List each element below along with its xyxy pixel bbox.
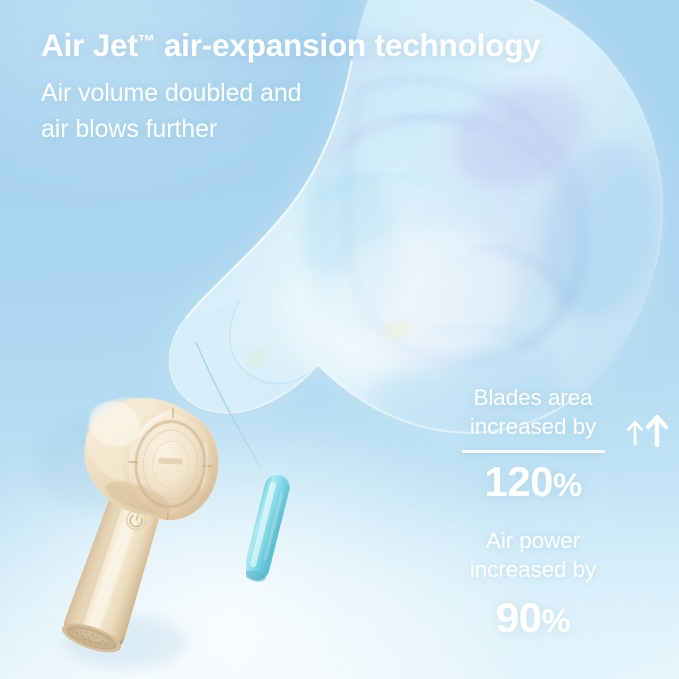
blades-area-label-line-1: Blades area	[418, 383, 648, 412]
product-marketing-poster: Air Jet™ air-expansion technology Air vo…	[0, 0, 679, 679]
page-title: Air Jet™ air-expansion technology	[41, 28, 661, 63]
blades-area-value: 120%	[418, 460, 648, 505]
air-power-number: 90	[496, 594, 542, 641]
double-up-arrow-icon	[622, 411, 679, 451]
air-power-unit: %	[542, 602, 571, 639]
air-power-label-line-2: increased by	[418, 555, 648, 584]
stats-block: Blades area increased by 120% Air power …	[418, 383, 648, 641]
subheadline-line-1: Air volume doubled and	[41, 75, 661, 111]
subheadline-line-2: air blows further	[41, 111, 661, 147]
blades-area-number: 120	[484, 458, 553, 505]
blades-area-label: Blades area increased by	[418, 383, 648, 441]
stat-divider	[462, 450, 605, 453]
headline-block: Air Jet™ air-expansion technology Air vo…	[41, 28, 661, 147]
balloon-weight	[246, 468, 290, 592]
air-power-label-line-1: Air power	[418, 526, 648, 555]
air-power-value: 90%	[418, 596, 648, 641]
air-power-label: Air power increased by	[418, 526, 648, 584]
headline-text-after-tm: air-expansion technology	[155, 27, 540, 63]
subheadline: Air volume doubled and air blows further	[41, 75, 661, 147]
handheld-fan-product	[28, 392, 238, 677]
headline-text-before-tm: Air Jet	[41, 27, 138, 63]
blades-area-unit: %	[553, 466, 582, 503]
trademark-symbol: ™	[138, 31, 156, 51]
blades-area-label-line-2: increased by	[418, 412, 648, 441]
